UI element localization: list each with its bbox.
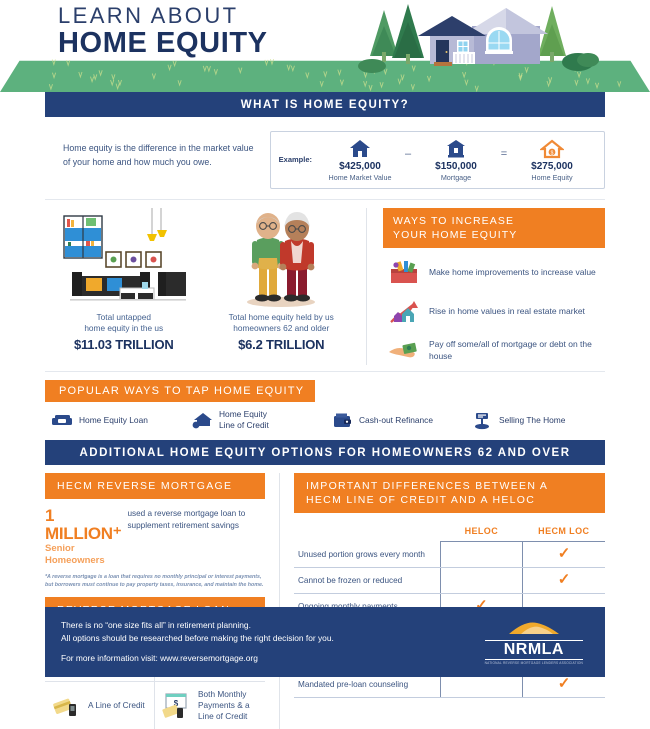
- popular-way-heloc[interactable]: Home Equity Line of Credit: [185, 409, 325, 431]
- nrmla-logo: NRMLA NATIONAL REVERSE MORTGAGE LENDERS …: [485, 619, 589, 665]
- footer: There is no “one size fits all” in retir…: [45, 607, 605, 677]
- million-stat: 1 MILLION⁺ Senior Homeowners used a reve…: [45, 507, 265, 567]
- title-line-1: LEARN ABOUT: [58, 4, 268, 28]
- example-item-home-equity: $ $275,000 Home Equity: [512, 137, 592, 182]
- home-equity-definition: Home equity is the difference in the mar…: [45, 131, 256, 169]
- bank-icon: [416, 137, 496, 159]
- ways-header-line2: YOUR HOME EQUITY: [393, 229, 517, 241]
- house-dollar-icon: $: [512, 137, 592, 159]
- popular-way-label: Home Equity Line of Credit: [219, 409, 269, 431]
- example-box: Example: $425,000 Home Market Value –: [270, 131, 605, 189]
- proceeds-text: Both Monthly Payments & a Line of Credit: [195, 689, 263, 722]
- stat-caption-line2: homeowners 62 and older: [233, 323, 329, 333]
- way-text: Rise in home values in real estate marke…: [425, 305, 585, 317]
- house-icon: [320, 137, 400, 159]
- hecm-footnote: *A reverse mortgage is a loan that requi…: [45, 574, 265, 589]
- for-sale-sign-icon: [465, 411, 499, 430]
- table-row: Cannot be frozen or reduced✓: [294, 568, 605, 594]
- popular-way-label-line2: Line of Credit: [219, 420, 269, 430]
- popular-ways-row: Home Equity Loan Home Equity Line of Cre…: [45, 402, 605, 440]
- proceeds-text: A Line of Credit: [85, 700, 145, 711]
- proceeds-item-line-of-credit: A Line of Credit: [45, 682, 155, 729]
- cell-heloc: [440, 568, 522, 594]
- example-caption: Home Equity: [512, 173, 592, 182]
- hecm-header: HECM REVERSE MORTGAGE: [45, 473, 265, 499]
- additional-options-banner: ADDITIONAL HOME EQUITY OPTIONS FOR HOMEO…: [45, 440, 605, 465]
- wallet-icon: [325, 412, 359, 429]
- popular-ways-header: POPULAR WAYS TO TAP HOME EQUITY: [45, 380, 315, 402]
- popular-way-selling-home[interactable]: Selling The Home: [465, 411, 605, 430]
- row-label: Cannot be frozen or reduced: [294, 568, 440, 594]
- example-amount: $275,000: [512, 161, 592, 172]
- comparison-header-line2: HECM LINE OF CREDIT AND A HELOC: [306, 494, 535, 506]
- popular-way-label-line1: Home Equity: [219, 409, 267, 419]
- equals-operator: =: [496, 148, 512, 172]
- table-header-row: HELOC HECM LOC: [294, 523, 605, 542]
- million-figure: 1 MILLION⁺ Senior Homeowners: [45, 507, 121, 567]
- credit-card-icon: [47, 695, 85, 717]
- nrmla-wordmark: NRMLA: [485, 640, 583, 660]
- nrmla-sun-icon: [503, 619, 565, 635]
- example-item-market-value: $425,000 Home Market Value: [320, 137, 400, 182]
- stat-value: $6.2 TRILLION: [203, 337, 361, 352]
- row-label: Unused portion grows every month: [294, 542, 440, 568]
- way-item-payoff: Pay off some/all of mortgage or debt on …: [383, 335, 605, 365]
- popular-way-home-equity-loan[interactable]: Home Equity Loan: [45, 412, 185, 428]
- example-amount: $150,000: [416, 161, 496, 172]
- check-icon: ✓: [558, 548, 571, 559]
- way-item-market-rise: Rise in home values in real estate marke…: [383, 296, 605, 326]
- ways-header-line1: WAYS TO INCREASE: [393, 215, 514, 227]
- check-icon: ✓: [558, 678, 571, 689]
- example-label: Example:: [279, 155, 312, 164]
- hand-cash-icon: [383, 335, 425, 365]
- way-item-improvements: Make home improvements to increase value: [383, 257, 605, 287]
- house-growth-arrow-icon: [383, 296, 425, 326]
- stat-value: $11.03 TRILLION: [45, 337, 203, 352]
- senior-couple-illustration: [203, 208, 361, 308]
- ways-to-increase-header: WAYS TO INCREASE YOUR HOME EQUITY: [383, 208, 605, 248]
- popular-way-label: Cash-out Refinance: [359, 415, 433, 426]
- example-amount: $425,000: [320, 161, 400, 172]
- cash-stack-icon: [45, 412, 79, 428]
- stat-caption: Total untapped home equity in the us: [45, 312, 203, 334]
- footer-text: There is no “one size fits all” in retir…: [61, 619, 334, 665]
- million-description: used a reverse mortgage loan to suppleme…: [121, 507, 265, 531]
- divider: [45, 371, 605, 372]
- way-text: Pay off some/all of mortgage or debt on …: [425, 338, 605, 362]
- check-and-card-icon: $: [157, 693, 195, 719]
- title-line-2: HOME EQUITY: [58, 28, 268, 59]
- example-caption: Mortgage: [416, 173, 496, 182]
- nrmla-subtitle: NATIONAL REVERSE MORTGAGE LENDERS ASSOCI…: [485, 661, 583, 665]
- minus-operator: –: [400, 148, 416, 172]
- page-title: LEARN ABOUT HOME EQUITY: [58, 4, 268, 59]
- house-key-icon: [185, 411, 219, 429]
- house-illustration: [352, 0, 642, 92]
- stats-section: Total untapped home equity in the us $11…: [0, 200, 650, 371]
- header: LEARN ABOUT HOME EQUITY: [0, 0, 650, 92]
- cell-hecm-loc: ✓: [523, 568, 605, 594]
- stat-caption-line1: Total home equity held by us: [229, 312, 334, 322]
- million-number: 1 MILLION⁺: [45, 507, 121, 543]
- table-row: Unused portion grows every month✓: [294, 542, 605, 568]
- cell-hecm-loc: ✓: [523, 542, 605, 568]
- living-room-illustration: [45, 208, 203, 308]
- stat-caption-line2: home equity in the us: [84, 323, 163, 333]
- comparison-header-line1: IMPORTANT DIFFERENCES BETWEEN A: [306, 480, 548, 492]
- million-subtitle: Senior Homeowners: [45, 543, 121, 567]
- stat-caption: Total home equity held by us homeowners …: [203, 312, 361, 334]
- popular-way-label: Home Equity Loan: [79, 415, 148, 426]
- stat-untapped-equity: Total untapped home equity in the us $11…: [45, 208, 203, 365]
- example-caption: Home Market Value: [320, 173, 400, 182]
- footer-line-3[interactable]: For more information visit: www.reversem…: [61, 653, 258, 663]
- way-text: Make home improvements to increase value: [425, 266, 596, 278]
- column-header-hecm-loc: HECM LOC: [523, 523, 605, 542]
- proceeds-item-both: $ Both Monthly Payments & a Line of Cred…: [155, 682, 265, 729]
- stat-caption-line1: Total untapped: [97, 312, 151, 322]
- stat-senior-equity: Total home equity held by us homeowners …: [203, 208, 361, 365]
- what-is-home-equity-banner: WHAT IS HOME EQUITY?: [45, 92, 605, 117]
- column-header-blank: [294, 523, 440, 542]
- stats-group: Total untapped home equity in the us $11…: [45, 208, 367, 365]
- ways-to-increase-section: WAYS TO INCREASE YOUR HOME EQUITY Make h…: [367, 208, 605, 365]
- infographic-page: LEARN ABOUT HOME EQUITY WHAT IS HOME EQU…: [0, 0, 650, 691]
- toolbox-icon: [383, 257, 425, 287]
- column-header-heloc: HELOC: [440, 523, 522, 542]
- svg-text:$: $: [551, 151, 554, 157]
- definition-row: Home equity is the difference in the mar…: [0, 117, 650, 199]
- footer-line-1: There is no “one size fits all” in retir…: [61, 620, 251, 630]
- footer-line-2: All options should be researched before …: [61, 633, 334, 643]
- popular-way-label: Selling The Home: [499, 415, 565, 426]
- comparison-header: IMPORTANT DIFFERENCES BETWEEN A HECM LIN…: [294, 473, 605, 513]
- example-item-mortgage: $150,000 Mortgage: [416, 137, 496, 182]
- popular-way-cash-out-refinance[interactable]: Cash-out Refinance: [325, 412, 465, 429]
- check-icon: ✓: [558, 574, 571, 585]
- cell-heloc: [440, 542, 522, 568]
